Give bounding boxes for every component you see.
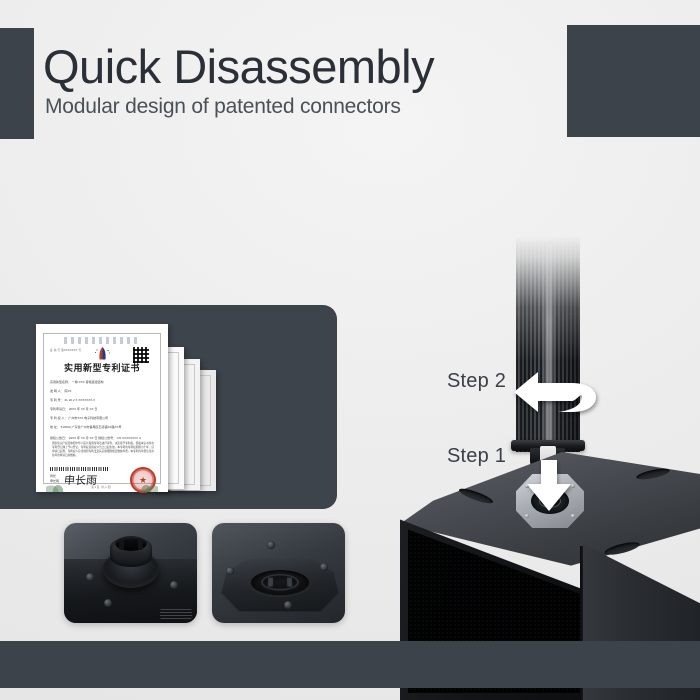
connector-recess-female-photo bbox=[212, 523, 345, 623]
connector-tab-right bbox=[287, 578, 292, 587]
certificate-barcode bbox=[50, 467, 108, 471]
certificate-ornament bbox=[64, 337, 140, 344]
connector-keyway-left bbox=[119, 539, 124, 550]
screw-icon bbox=[571, 514, 575, 518]
certificate-field-patentno: 专 利 号： ZL 20 2 X XXXXXXX.X bbox=[50, 398, 95, 402]
certificate-field-grant: 授权公告日： 20XX 年 XX 月 XX 日 授权公告号： CN XXXXXX… bbox=[50, 436, 141, 440]
certificate-page-number: 第 1 页（共 1 页） bbox=[36, 485, 168, 489]
connector-tab-left bbox=[268, 578, 273, 587]
screw-icon bbox=[104, 599, 112, 607]
screw-icon bbox=[170, 581, 178, 589]
screw-icon bbox=[284, 601, 292, 609]
certificate-field-filedate: 专利申请日： 20XX 年 XX 月 XX 日 bbox=[50, 407, 97, 411]
footer-accent-bar bbox=[0, 641, 700, 688]
step-2-label: Step 2 bbox=[447, 370, 506, 393]
patent-office-logo-icon bbox=[94, 346, 111, 361]
certificate-field-inventor: 发 明 人： 陈XX bbox=[50, 389, 72, 393]
header-accent-block-left bbox=[0, 28, 34, 139]
certificate-field-address: 地 址： 510000 广东省广州市番禺区石基镇XX路XX号 bbox=[50, 425, 122, 429]
screw-icon bbox=[86, 573, 94, 581]
step-1-label: Step 1 bbox=[447, 445, 506, 468]
certificate-field-name: 实用新型名称： 一种 XXX 音箱连接结构 bbox=[50, 380, 104, 384]
screw-icon bbox=[320, 563, 328, 571]
connector-keyway-right bbox=[138, 539, 143, 550]
certificate-stack-item-1: 证 书 号 第XXXXXXX 号 实用新型专利证书 实用新型名称： 一种 XXX… bbox=[36, 324, 168, 492]
certificate-footer-ornament-right bbox=[134, 476, 158, 492]
certificate-title: 实用新型专利证书 bbox=[36, 361, 168, 374]
certificate-field-assignee: 专 利 权 人： 广州市XXX 电子科技有限公司 bbox=[50, 416, 108, 420]
header-accent-block-right bbox=[567, 25, 700, 137]
slide-canvas: Quick Disassembly Modular design of pate… bbox=[0, 0, 700, 700]
screw-icon bbox=[226, 567, 234, 575]
screw-icon bbox=[267, 541, 275, 549]
screw-icon bbox=[525, 514, 529, 518]
page-title: Quick Disassembly bbox=[43, 43, 434, 91]
certificate-serial: 证 书 号 第XXXXXXX 号 bbox=[50, 348, 81, 352]
vent-slots bbox=[160, 609, 192, 619]
rotate-arrow-icon bbox=[502, 356, 602, 422]
connector-socket-male-photo bbox=[64, 523, 197, 623]
page-subtitle: Modular design of patented connectors bbox=[45, 95, 401, 118]
certificate-body-text: 国家知识产权局依照中华人民共和国专利法进行审查，决定授予专利权，颁发本证书并在专… bbox=[52, 442, 154, 458]
certificate-footer-ornament-left bbox=[46, 476, 70, 492]
down-arrow-icon bbox=[524, 460, 574, 512]
